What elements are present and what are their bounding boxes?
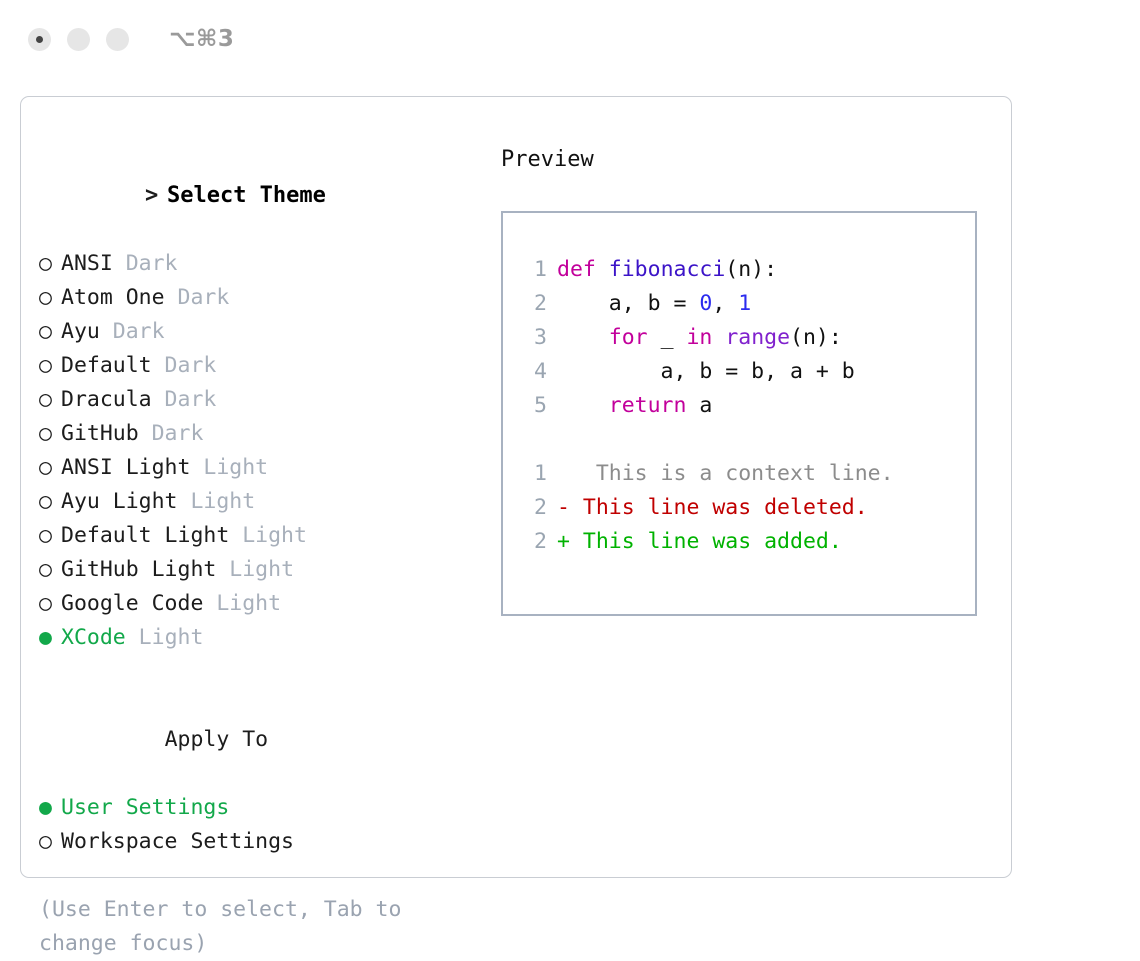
code-line: 3 for _ in range(n):	[503, 321, 975, 355]
radio-unselected-icon: ○	[39, 485, 61, 519]
diff-line-ctx: 1 This is a context line.	[503, 457, 975, 491]
code-token: in	[686, 325, 712, 350]
theme-option-label: Ayu Light	[61, 489, 178, 514]
diff-line-del: 2- This line was deleted.	[503, 491, 975, 525]
diff-text: This is a context line.	[570, 461, 894, 486]
radio-unselected-icon: ○	[39, 315, 61, 349]
theme-variant-label: Light	[216, 557, 294, 582]
apply-to-label: Apply To	[165, 727, 269, 752]
code-token: (n):	[725, 257, 777, 282]
code-line: 1def fibonacci(n):	[503, 253, 975, 287]
theme-option-label: ANSI Light	[61, 455, 190, 480]
apply-to-option-label: User Settings	[61, 795, 229, 820]
theme-option-label: ANSI	[61, 251, 113, 276]
diff-text: This line was deleted.	[570, 495, 868, 520]
code-line: 4 a, b = b, a + b	[503, 355, 975, 389]
code-token: a, b =	[557, 291, 699, 316]
code-token	[596, 257, 609, 282]
code-token: fibonacci	[609, 257, 726, 282]
window-dot-active-icon[interactable]	[28, 28, 51, 51]
theme-option-label: Atom One	[61, 285, 165, 310]
code-token: range	[725, 325, 790, 350]
code-line-number: 4	[523, 355, 547, 389]
preview-box: 1def fibonacci(n):2 a, b = 0, 13 for _ i…	[501, 211, 977, 616]
code-token: 0	[699, 291, 712, 316]
theme-option-ansi[interactable]: ○ANSI Dark	[39, 247, 479, 281]
radio-unselected-icon: ○	[39, 383, 61, 417]
code-token: def	[557, 257, 596, 282]
code-line-number: 3	[523, 321, 547, 355]
theme-variant-label: Dark	[113, 251, 178, 276]
spacer	[39, 655, 479, 689]
apply-to-options: ●User Settings○Workspace Settings	[39, 791, 479, 859]
code-line: 2 a, b = 0, 1	[503, 287, 975, 321]
theme-option-label: Dracula	[61, 387, 152, 412]
theme-option-label: Default	[61, 353, 152, 378]
theme-variant-label: Light	[178, 489, 256, 514]
window-titlebar: ⌥⌘3	[0, 0, 1140, 78]
code-line-number: 2	[523, 287, 547, 321]
apply-to-indent	[143, 723, 165, 757]
keyboard-hint-text: (Use Enter to select, Tab to change focu…	[39, 893, 449, 961]
code-token: a, b = b, a + b	[557, 359, 855, 384]
theme-option-ansi-light[interactable]: ○ANSI Light Light	[39, 451, 479, 485]
code-token: (n):	[790, 325, 842, 350]
radio-unselected-icon: ○	[39, 417, 61, 451]
code-line: 5 return a	[503, 389, 975, 423]
diff-sample: 1 This is a context line.2- This line wa…	[503, 457, 975, 559]
radio-unselected-icon: ○	[39, 587, 61, 621]
theme-options: ○ANSI Dark○Atom One Dark○Ayu Dark○Defaul…	[39, 247, 479, 655]
theme-option-label: XCode	[61, 625, 126, 650]
theme-option-label: Default Light	[61, 523, 229, 548]
heading-caret-icon: >	[145, 179, 167, 213]
code-token	[557, 325, 609, 350]
code-token: for	[609, 325, 648, 350]
code-token	[557, 393, 609, 418]
preview-title: Preview	[501, 145, 991, 175]
theme-option-github-light[interactable]: ○GitHub Light Light	[39, 553, 479, 587]
radio-selected-icon: ●	[39, 621, 61, 655]
diff-line-add: 2+ This line was added.	[503, 525, 975, 559]
diff-text: This line was added.	[570, 529, 842, 554]
theme-option-github[interactable]: ○GitHub Dark	[39, 417, 479, 451]
code-token	[712, 325, 725, 350]
radio-unselected-icon: ○	[39, 825, 61, 859]
code-sample: 1def fibonacci(n):2 a, b = 0, 13 for _ i…	[503, 253, 975, 423]
theme-option-xcode[interactable]: ●XCode Light	[39, 621, 479, 655]
theme-option-label: Ayu	[61, 319, 100, 344]
apply-to-title: Apply To	[39, 689, 479, 791]
page-title: Select Theme	[167, 183, 326, 208]
code-line-number: 5	[523, 389, 547, 423]
theme-option-default-light[interactable]: ○Default Light Light	[39, 519, 479, 553]
radio-selected-icon: ●	[39, 791, 61, 825]
apply-to-option-user-settings[interactable]: ●User Settings	[39, 791, 479, 825]
theme-option-label: GitHub	[61, 421, 139, 446]
code-token: a	[686, 393, 712, 418]
theme-option-ayu-light[interactable]: ○Ayu Light Light	[39, 485, 479, 519]
theme-list-column: >Select Theme ○ANSI Dark○Atom One Dark○A…	[39, 145, 479, 961]
radio-unselected-icon: ○	[39, 451, 61, 485]
preview-divider-space	[503, 423, 975, 457]
diff-line-number: 1	[523, 457, 547, 491]
theme-option-dracula[interactable]: ○Dracula Dark	[39, 383, 479, 417]
theme-variant-label: Dark	[165, 285, 230, 310]
window-controls	[28, 28, 129, 51]
code-line-number: 1	[523, 253, 547, 287]
theme-option-label: Google Code	[61, 591, 203, 616]
theme-option-default[interactable]: ○Default Dark	[39, 349, 479, 383]
apply-to-option-workspace-settings[interactable]: ○Workspace Settings	[39, 825, 479, 859]
radio-unselected-icon: ○	[39, 553, 61, 587]
theme-option-atom-one[interactable]: ○Atom One Dark	[39, 281, 479, 315]
theme-variant-label: Dark	[100, 319, 165, 344]
window-dot-second-icon[interactable]	[67, 28, 90, 51]
theme-list-heading: >Select Theme	[39, 145, 479, 247]
preview-column: Preview 1def fibonacci(n):2 a, b = 0, 13…	[501, 145, 991, 616]
apply-to-option-label: Workspace Settings	[61, 829, 294, 854]
theme-variant-label: Light	[229, 523, 307, 548]
theme-variant-label: Light	[203, 591, 281, 616]
code-token: _	[648, 325, 687, 350]
diff-sign: +	[557, 529, 570, 554]
theme-variant-label: Light	[190, 455, 268, 480]
radio-unselected-icon: ○	[39, 281, 61, 315]
code-token: return	[609, 393, 687, 418]
theme-option-label: GitHub Light	[61, 557, 216, 582]
theme-variant-label: Light	[126, 625, 204, 650]
radio-unselected-icon: ○	[39, 247, 61, 281]
code-token: 1	[738, 291, 751, 316]
diff-line-number: 2	[523, 525, 547, 559]
theme-variant-label: Dark	[139, 421, 204, 446]
radio-unselected-icon: ○	[39, 349, 61, 383]
radio-unselected-icon: ○	[39, 519, 61, 553]
theme-selector-panel: >Select Theme ○ANSI Dark○Atom One Dark○A…	[20, 96, 1012, 878]
diff-line-number: 2	[523, 491, 547, 525]
keyboard-shortcut-label: ⌥⌘3	[169, 26, 234, 52]
theme-variant-label: Dark	[152, 387, 217, 412]
code-token: ,	[712, 291, 738, 316]
theme-variant-label: Dark	[152, 353, 217, 378]
diff-sign: -	[557, 495, 570, 520]
diff-sign	[557, 461, 570, 486]
theme-option-google-code[interactable]: ○Google Code Light	[39, 587, 479, 621]
window-dot-third-icon[interactable]	[106, 28, 129, 51]
theme-option-ayu[interactable]: ○Ayu Dark	[39, 315, 479, 349]
